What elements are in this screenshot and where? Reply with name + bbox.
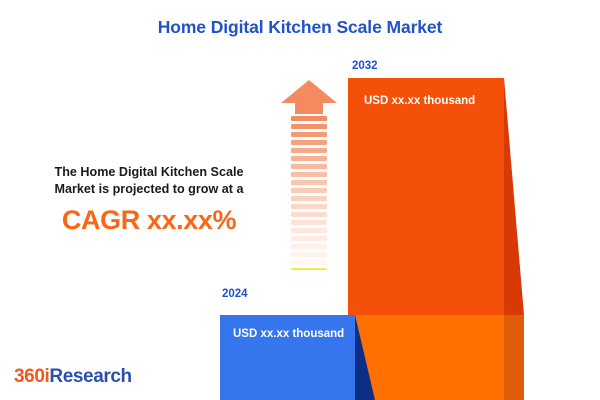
value-label-2024: USD xx.xx thousand <box>233 328 344 340</box>
infographic-canvas: Home Digital Kitchen Scale Market 2032 2… <box>0 0 600 400</box>
arrow-stripe <box>291 196 327 201</box>
logo-text-research: Research <box>49 366 131 387</box>
arrow-stripe <box>291 268 327 270</box>
bar-2024-side-face <box>355 315 375 400</box>
arrow-stripe <box>291 148 327 153</box>
bar-2032-side-face-lower <box>504 315 524 400</box>
up-arrow-shaft <box>291 116 327 295</box>
value-label-2032: USD xx.xx thousand <box>364 95 475 107</box>
arrow-stripe <box>291 164 327 169</box>
arrow-stripe <box>291 281 327 286</box>
arrow-stripe <box>291 116 327 121</box>
arrow-stripe <box>291 132 327 137</box>
arrow-stripe <box>291 260 327 265</box>
arrow-stripe <box>291 252 327 257</box>
logo-text-360i: 360i <box>14 366 49 387</box>
arrow-stripe <box>291 228 327 233</box>
brand-logo[interactable]: 360iResearch <box>14 366 132 388</box>
page-title: Home Digital Kitchen Scale Market <box>0 17 600 38</box>
cagr-value: CAGR xx.xx% <box>18 205 280 236</box>
up-arrow-head-icon <box>281 80 337 114</box>
arrow-stripe <box>291 180 327 185</box>
arrow-stripe <box>291 140 327 145</box>
bar-2032-side-face-upper <box>504 78 524 315</box>
arrow-stripe <box>291 220 327 225</box>
year-label-2032: 2032 <box>352 60 378 72</box>
cagr-block: The Home Digital Kitchen Scale Market is… <box>18 164 280 236</box>
cagr-lead-text: The Home Digital Kitchen Scale Market is… <box>18 164 280 198</box>
arrow-stripe <box>291 204 327 209</box>
arrow-stripe <box>291 172 327 177</box>
cagr-lead-line-1: The Home Digital Kitchen Scale <box>55 165 244 179</box>
bar-2032-front-face-upper <box>348 78 504 315</box>
arrow-stripe <box>291 236 327 241</box>
cagr-lead-line-2: Market is projected to grow at a <box>55 182 244 196</box>
year-label-2024: 2024 <box>222 288 248 300</box>
arrow-stripe <box>291 289 327 294</box>
up-arrow-icon <box>281 80 337 295</box>
arrow-stripe <box>291 188 327 193</box>
arrow-stripe <box>291 124 327 129</box>
arrow-stripe <box>291 212 327 217</box>
arrow-stripe <box>291 156 327 161</box>
arrow-stripe <box>291 244 327 249</box>
arrow-stripe <box>291 273 327 278</box>
